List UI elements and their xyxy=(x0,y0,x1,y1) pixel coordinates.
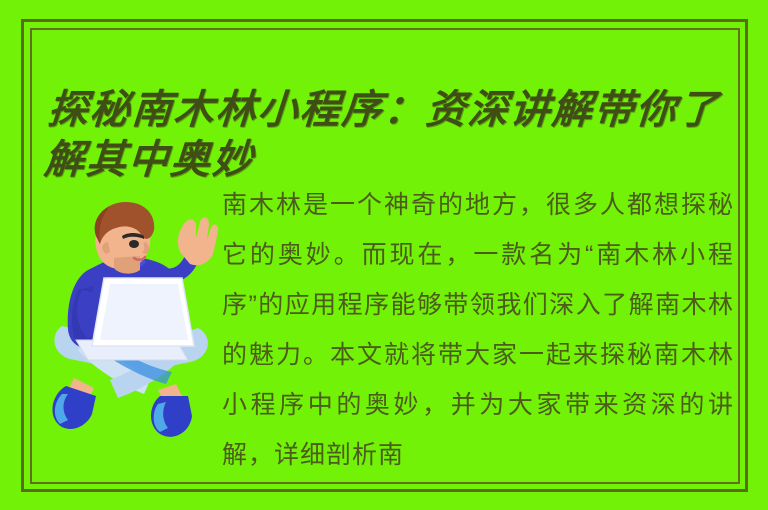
poster-canvas: 探秘南木林小程序：资深讲解带你了解其中奥妙 南木林是一个神奇的地方，很多人都想探… xyxy=(0,0,768,510)
article-body: 南木林是一个神奇的地方，很多人都想探秘它的奥妙。而现在，一款名为“南木林小程序”… xyxy=(222,180,734,500)
article-title: 探秘南木林小程序：资深讲解带你了解其中奥妙 xyxy=(43,85,740,185)
illustration-man-with-laptop xyxy=(48,198,218,438)
